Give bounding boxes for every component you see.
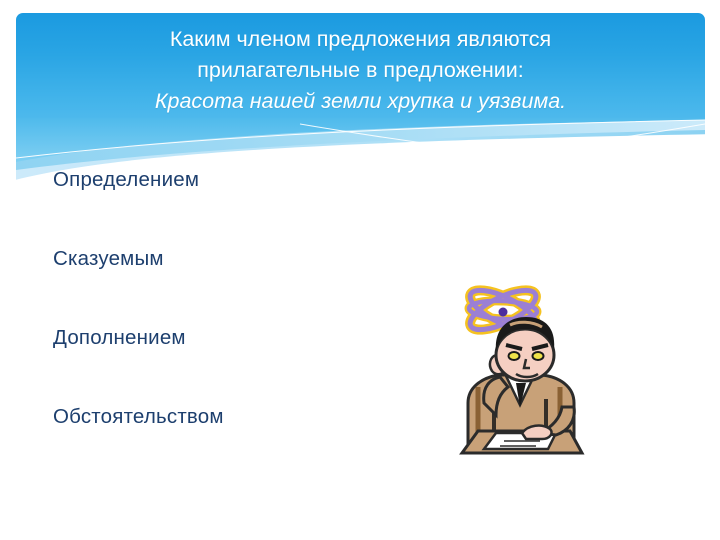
answer-option-3[interactable]: Дополнением	[53, 324, 433, 403]
header-banner: Каким членом предложения являются прилаг…	[16, 13, 705, 133]
man-figure	[462, 317, 582, 453]
atom-nucleus	[499, 308, 508, 317]
answer-option-2[interactable]: Сказуемым	[53, 245, 433, 324]
head	[496, 329, 554, 381]
thinking-man-svg	[448, 283, 600, 468]
eye-right	[533, 352, 544, 360]
answer-option-4[interactable]: Обстоятельством	[53, 403, 433, 482]
title-line-2: прилагательные в предложении:	[16, 55, 705, 86]
title-line-1: Каким членом предложения являются	[16, 24, 705, 55]
page-title: Каким членом предложения являются прилаг…	[16, 13, 705, 117]
answer-option-1[interactable]: Определением	[53, 166, 433, 245]
slide-canvas: Каким членом предложения являются прилаг…	[0, 0, 720, 540]
writing-hand	[522, 426, 552, 439]
title-line-3-example-sentence: Красота нашей земли хрупка и уязвима.	[16, 86, 705, 117]
eye-left	[509, 352, 520, 360]
thinking-man-clipart	[448, 283, 600, 468]
answer-options-list: Определением Сказуемым Дополнением Обсто…	[53, 166, 433, 482]
